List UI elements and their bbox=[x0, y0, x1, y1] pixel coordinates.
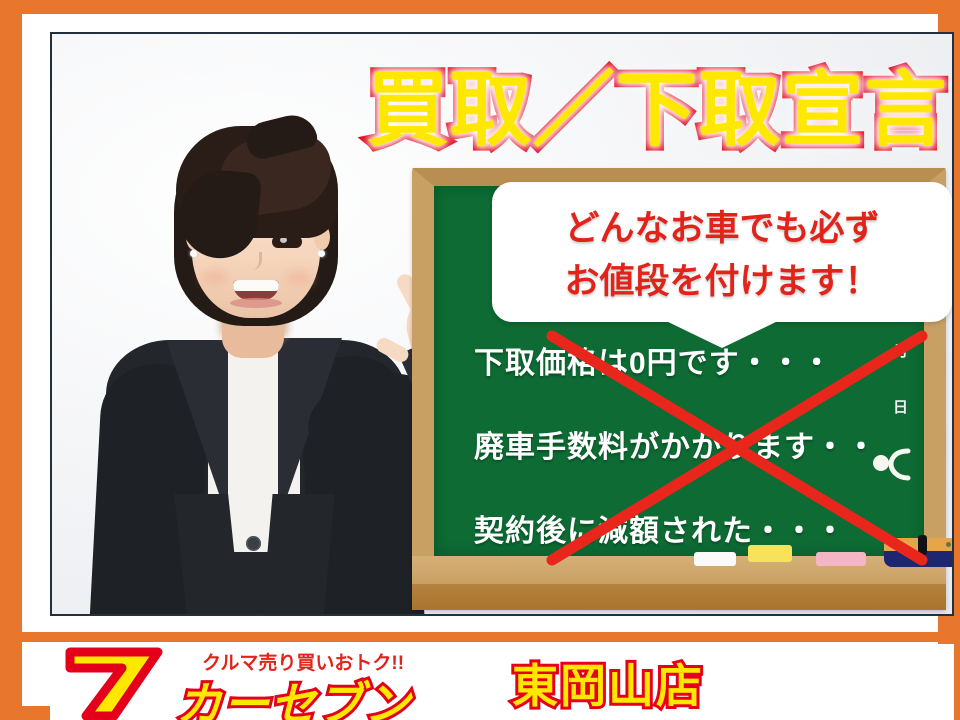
speech-bubble: どんなお車でも必ず お値段を付けます！ bbox=[492, 182, 952, 322]
eraser-stud-left bbox=[895, 542, 900, 547]
cheek-left bbox=[202, 270, 228, 285]
page-title: 買取／下取宣言 bbox=[344, 58, 954, 164]
board-date-day-label: 日 bbox=[893, 396, 910, 417]
chalk-doodle-icon bbox=[870, 446, 916, 482]
bubble-text-line-1: どんなお車でも必ず bbox=[564, 200, 879, 251]
earring-right bbox=[318, 250, 325, 257]
board-text-line-2: 廃車手数料がかかります・・ bbox=[474, 422, 877, 466]
jacket-button bbox=[246, 536, 261, 551]
blackboard-eraser-icon bbox=[884, 538, 954, 566]
white-chalk-icon bbox=[694, 552, 736, 566]
eraser-stud-right bbox=[946, 542, 951, 547]
advertisement-poster: 下取価格は0円です・・・ 廃車手数料がかかります・・ 契約後に減額された・・・ … bbox=[0, 0, 960, 720]
poster-inner-page: 下取価格は0円です・・・ 廃車手数料がかかります・・ 契約後に減額された・・・ … bbox=[22, 14, 938, 706]
board-text-line-3: 契約後に減額された・・・ bbox=[474, 506, 846, 550]
footer-branding-bar: クルマ売り買いおトク!! カーセブン 東岡山店 bbox=[50, 644, 954, 720]
eraser-strap bbox=[918, 535, 927, 555]
jacket-lapel-left bbox=[166, 340, 228, 520]
jacket-front-right bbox=[259, 494, 334, 616]
smiling-mouth bbox=[233, 280, 279, 300]
car-seven-logo-icon bbox=[62, 646, 166, 720]
brand-lockup: クルマ売り買いおトク!! カーセブン bbox=[176, 646, 476, 720]
footer-divider bbox=[22, 632, 960, 642]
brand-name: カーセブン bbox=[176, 668, 411, 720]
teeth bbox=[233, 280, 279, 291]
bubble-text-line-2: お値段を付けます！ bbox=[564, 253, 879, 304]
blackboard-frame-bottom bbox=[412, 584, 946, 610]
main-visual-panel: 下取価格は0円です・・・ 廃車手数料がかかります・・ 契約後に減額された・・・ … bbox=[50, 32, 954, 616]
cheek-right bbox=[286, 270, 312, 285]
earring-left bbox=[190, 250, 197, 257]
board-date-month-label: 月 bbox=[893, 340, 910, 361]
lower-lip bbox=[230, 298, 282, 308]
store-name: 東岡山店 bbox=[512, 650, 704, 716]
pink-chalk-icon bbox=[816, 552, 866, 566]
